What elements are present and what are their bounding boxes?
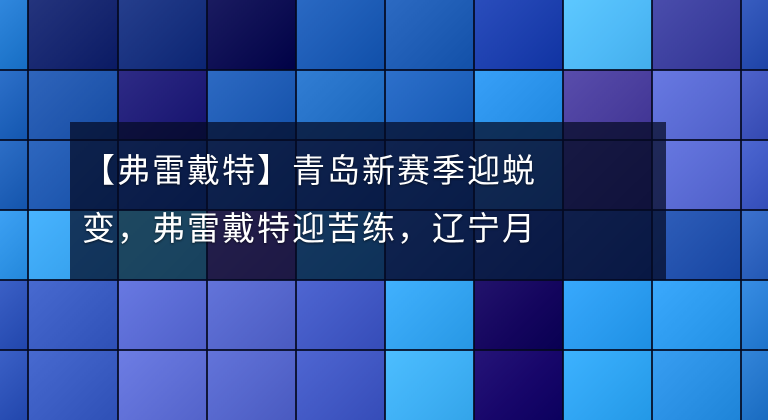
- mosaic-tile: [207, 350, 296, 420]
- mosaic-tile: [0, 280, 28, 350]
- mosaic-tile: [652, 280, 741, 350]
- mosaic-tile: [563, 350, 652, 420]
- mosaic-tile: [296, 0, 385, 70]
- mosaic-tile: [118, 0, 207, 70]
- mosaic-tile: [0, 350, 28, 420]
- mosaic-tile: [741, 280, 768, 350]
- mosaic-tile: [28, 280, 118, 350]
- mosaic-tile: [474, 350, 563, 420]
- mosaic-tile: [474, 0, 563, 70]
- mosaic-tile: [563, 0, 652, 70]
- mosaic-tile: [741, 350, 768, 420]
- mosaic-tile: [296, 350, 385, 420]
- mosaic-tile: [741, 70, 768, 140]
- mosaic-tile: [0, 70, 28, 140]
- mosaic-tile: [0, 0, 28, 70]
- mosaic-tile: [741, 210, 768, 280]
- headline-line-2: 变，弗雷戴特迎苦练，辽宁月: [82, 201, 537, 259]
- mosaic-tile: [385, 0, 474, 70]
- mosaic-tile: [207, 280, 296, 350]
- mosaic-tile: [296, 280, 385, 350]
- mosaic-tile: [28, 350, 118, 420]
- mosaic-tile: [118, 350, 207, 420]
- mosaic-tile: [207, 0, 296, 70]
- mosaic-tile: [0, 210, 28, 280]
- mosaic-tile: [28, 0, 118, 70]
- image-canvas: 【弗雷戴特】青岛新赛季迎蜕 变，弗雷戴特迎苦练，辽宁月: [0, 0, 768, 420]
- headline-line-1: 【弗雷戴特】青岛新赛季迎蜕: [82, 143, 537, 201]
- mosaic-tile: [741, 140, 768, 210]
- mosaic-tile: [474, 280, 563, 350]
- mosaic-tile: [118, 280, 207, 350]
- headline-block: 【弗雷戴特】青岛新赛季迎蜕 变，弗雷戴特迎苦练，辽宁月: [82, 128, 666, 274]
- mosaic-tile: [741, 0, 768, 70]
- mosaic-tile: [0, 140, 28, 210]
- mosaic-tile: [385, 350, 474, 420]
- mosaic-tile: [652, 0, 741, 70]
- mosaic-tile: [385, 280, 474, 350]
- mosaic-tile: [652, 350, 741, 420]
- mosaic-tile: [563, 280, 652, 350]
